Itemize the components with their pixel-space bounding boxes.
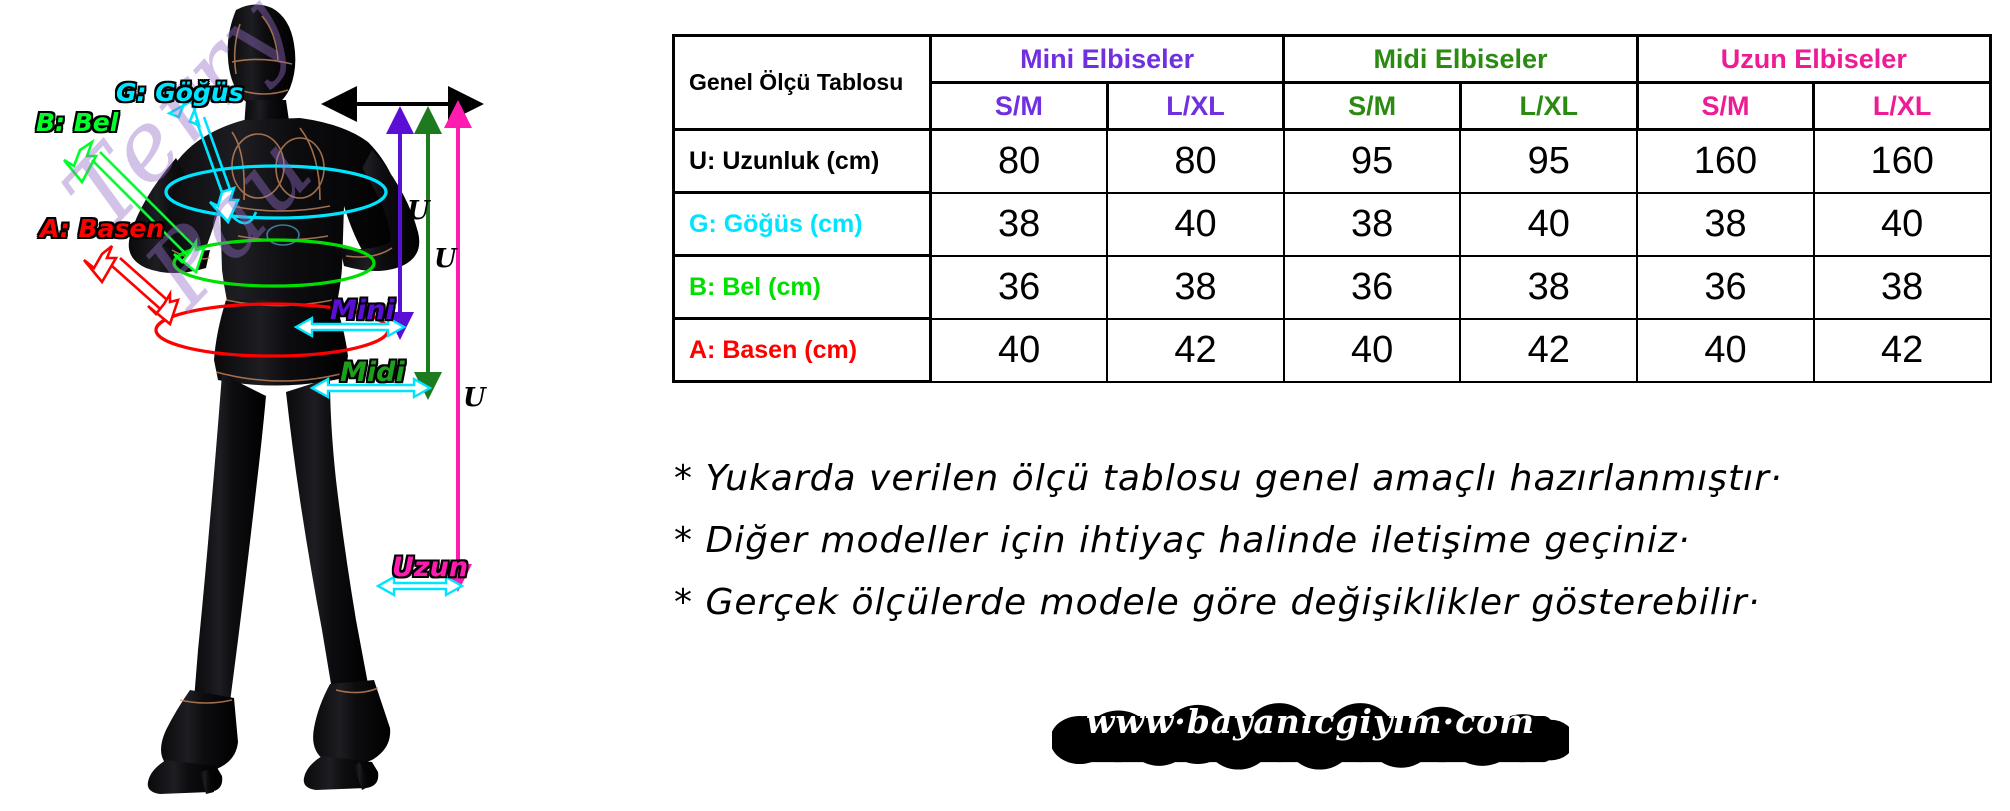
cell-bel-midi-lxl: 38: [1460, 256, 1637, 319]
table-row: B: Bel (cm) 36 38 36 38 36 38: [674, 256, 1991, 319]
size-header-uzun-sm: S/M: [1637, 83, 1814, 130]
website-banner[interactable]: www·bayanicgiyim·com: [1052, 692, 1569, 751]
row-label-basen: A: Basen (cm): [674, 319, 931, 382]
cell-gogus-mini-lxl: 40: [1107, 193, 1284, 256]
u-mark-uzun: U: [463, 383, 486, 413]
table-row: U: Uzunluk (cm) 80 80 95 95 160 160: [674, 130, 1991, 193]
cell-bel-mini-lxl: 38: [1107, 256, 1284, 319]
table-row: G: Göğüs (cm) 38 40 38 40 38 40: [674, 193, 1991, 256]
label-uzun: Uzun: [392, 552, 468, 583]
measurement-illustration-panel: Terry Pau G: Göğüs B: Bel A: Basen Mini …: [0, 0, 660, 811]
cell-uzunluk-mini-sm: 80: [931, 130, 1108, 193]
cell-uzunluk-uzun-sm: 160: [1637, 130, 1814, 193]
cell-bel-midi-sm: 36: [1284, 256, 1461, 319]
label-mini: Mini: [330, 295, 395, 326]
group-header-uzun: Uzun Elbiseler: [1637, 36, 1990, 83]
row-label-bel: B: Bel (cm): [674, 256, 931, 319]
table-row: A: Basen (cm) 40 42 40 42 40 42: [674, 319, 1991, 382]
group-header-midi: Midi Elbiseler: [1284, 36, 1637, 83]
cell-basen-mini-lxl: 42: [1107, 319, 1284, 382]
size-header-uzun-lxl: L/XL: [1814, 83, 1991, 130]
cell-basen-midi-lxl: 42: [1460, 319, 1637, 382]
row-label-uzunluk: U: Uzunluk (cm): [674, 130, 931, 193]
label-bel: B: Bel: [36, 108, 118, 137]
u-mark-midi: U: [434, 244, 457, 274]
website-url-text: www·bayanicgiyim·com: [1078, 702, 1543, 741]
cell-gogus-uzun-sm: 38: [1637, 193, 1814, 256]
cell-basen-midi-sm: 40: [1284, 319, 1461, 382]
table-header-row-groups: Genel Ölçü Tablosu Mini Elbiseler Midi E…: [674, 36, 1991, 83]
cell-basen-uzun-sm: 40: [1637, 319, 1814, 382]
cell-uzunluk-midi-sm: 95: [1284, 130, 1461, 193]
group-header-mini: Mini Elbiseler: [931, 36, 1284, 83]
model-silhouette: [129, 4, 420, 794]
cell-bel-uzun-lxl: 38: [1814, 256, 1991, 319]
size-header-mini-lxl: L/XL: [1107, 83, 1284, 130]
note-line-3: * Gerçek ölçülerde modele göre değişikli…: [674, 572, 1994, 634]
cell-basen-uzun-lxl: 42: [1814, 319, 1991, 382]
u-mark-mini: U: [407, 196, 430, 226]
cell-bel-uzun-sm: 36: [1637, 256, 1814, 319]
size-chart-panel: Genel Ölçü Tablosu Mini Elbiseler Midi E…: [660, 0, 2010, 811]
cell-uzunluk-midi-lxl: 95: [1460, 130, 1637, 193]
cell-uzunluk-uzun-lxl: 160: [1814, 130, 1991, 193]
label-midi: Midi: [340, 357, 405, 388]
cell-uzunluk-mini-lxl: 80: [1107, 130, 1284, 193]
cell-gogus-midi-sm: 38: [1284, 193, 1461, 256]
size-header-midi-lxl: L/XL: [1460, 83, 1637, 130]
cell-gogus-midi-lxl: 40: [1460, 193, 1637, 256]
note-line-2: * Diğer modeller için ihtiyaç halinde il…: [674, 510, 1994, 572]
cell-basen-mini-sm: 40: [931, 319, 1108, 382]
cell-gogus-mini-sm: 38: [931, 193, 1108, 256]
label-gogus: G: Göğüs: [116, 78, 244, 107]
size-header-midi-sm: S/M: [1284, 83, 1461, 130]
note-line-1: * Yukarda verilen ölçü tablosu genel ama…: [674, 448, 1994, 510]
label-basen: A: Basen: [40, 214, 164, 243]
corner-label: Genel Ölçü Tablosu: [674, 36, 931, 130]
notes-block: * Yukarda verilen ölçü tablosu genel ama…: [674, 448, 1994, 634]
cell-bel-mini-sm: 36: [931, 256, 1108, 319]
cell-gogus-uzun-lxl: 40: [1814, 193, 1991, 256]
size-header-mini-sm: S/M: [931, 83, 1108, 130]
size-chart-table: Genel Ölçü Tablosu Mini Elbiseler Midi E…: [672, 34, 1992, 383]
row-label-gogus: G: Göğüs (cm): [674, 193, 931, 256]
